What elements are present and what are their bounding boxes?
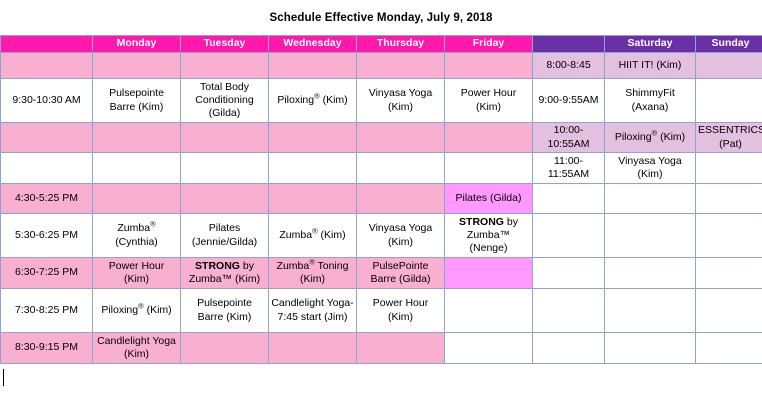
- cell-weekend-time: [533, 214, 605, 258]
- cell-time: 6:30-7:25 PM: [1, 258, 93, 289]
- cell-time: 9:30-10:30 AM: [1, 79, 93, 123]
- table-row: 7:30-8:25 PM Piloxing® (Kim) Pulsepointe…: [1, 289, 762, 333]
- cell-time: [1, 53, 93, 79]
- cell-time: 5:30-6:25 PM: [1, 214, 93, 258]
- cell-friday: [445, 53, 533, 79]
- cell-tuesday: [181, 184, 269, 214]
- cell-time: 4:30-5:25 PM: [1, 184, 93, 214]
- cell-saturday: ShimmyFit (Axana): [605, 79, 696, 123]
- cell-thursday: [357, 53, 445, 79]
- cell-thursday: [357, 333, 445, 364]
- cell-friday: [445, 153, 533, 184]
- cell-weekend-time: 9:00-9:55AM: [533, 79, 605, 123]
- cell-tuesday: STRONG by Zumba™ (Kim): [181, 258, 269, 289]
- cell-monday: Piloxing® (Kim): [93, 289, 181, 333]
- cell-wednesday: Piloxing® (Kim): [269, 79, 357, 123]
- table-row: 4:30-5:25 PM Pilates (Gilda): [1, 184, 762, 214]
- header-day-sunday: Sunday: [696, 36, 762, 53]
- cell-sunday: [696, 333, 762, 364]
- cell-wednesday: Candlelight Yoga- 7:45 start (Jim): [269, 289, 357, 333]
- cell-sunday: [696, 79, 762, 123]
- schedule-body: 8:00-8:45 HIIT IT! (Kim) 9:30-10:30 AM P…: [1, 53, 762, 364]
- cell-friday: Pilates (Gilda): [445, 184, 533, 214]
- cell-monday: Power Hour (Kim): [93, 258, 181, 289]
- cell-weekend-time: [533, 333, 605, 364]
- header-day-tuesday: Tuesday: [181, 36, 269, 53]
- cell-weekend-time: 10:00-10:55AM: [533, 123, 605, 153]
- cell-thursday: [357, 123, 445, 153]
- cell-weekend-time: [533, 184, 605, 214]
- table-row: 5:30-6:25 PM Zumba® (Cynthia) Pilates (J…: [1, 214, 762, 258]
- cell-sunday: [696, 289, 762, 333]
- header-day-thursday: Thursday: [357, 36, 445, 53]
- cell-sunday: [696, 53, 762, 79]
- cell-thursday: Vinyasa Yoga (Kim): [357, 214, 445, 258]
- cell-thursday: [357, 184, 445, 214]
- cell-monday: [93, 153, 181, 184]
- table-row: 8:00-8:45 HIIT IT! (Kim): [1, 53, 762, 79]
- cell-weekend-time: 8:00-8:45: [533, 53, 605, 79]
- header-day-monday: Monday: [93, 36, 181, 53]
- cell-monday: [93, 53, 181, 79]
- cell-thursday: Power Hour (Kim): [357, 289, 445, 333]
- cell-wednesday: [269, 184, 357, 214]
- cell-wednesday: Zumba® (Kim): [269, 214, 357, 258]
- schedule-table: Monday Tuesday Wednesday Thursday Friday…: [0, 35, 762, 364]
- cell-wednesday: [269, 53, 357, 79]
- cell-friday: [445, 123, 533, 153]
- cell-tuesday: [181, 53, 269, 79]
- cell-sunday: [696, 184, 762, 214]
- cell-friday: [445, 258, 533, 289]
- header-time-weekend: [533, 36, 605, 53]
- cell-tuesday: [181, 123, 269, 153]
- cell-thursday: [357, 153, 445, 184]
- table-row: 6:30-7:25 PM Power Hour (Kim) STRONG by …: [1, 258, 762, 289]
- cell-saturday: [605, 214, 696, 258]
- cell-time: 7:30-8:25 PM: [1, 289, 93, 333]
- cell-friday: Power Hour (Kim): [445, 79, 533, 123]
- cell-monday: Candlelight Yoga (Kim): [93, 333, 181, 364]
- table-row: 11:00-11:55AM Vinyasa Yoga (Kim): [1, 153, 762, 184]
- header-day-saturday: Saturday: [605, 36, 696, 53]
- cell-monday: [93, 123, 181, 153]
- page-title: Schedule Effective Monday, July 9, 2018: [0, 0, 762, 35]
- cell-sunday: [696, 153, 762, 184]
- cell-saturday: [605, 184, 696, 214]
- cell-friday: [445, 333, 533, 364]
- table-row: 8:30-9:15 PM Candlelight Yoga (Kim): [1, 333, 762, 364]
- table-row: 9:30-10:30 AM Pulsepointe Barre (Kim) To…: [1, 79, 762, 123]
- cell-thursday: Vinyasa Yoga (Kim): [357, 79, 445, 123]
- cell-tuesday: [181, 333, 269, 364]
- cell-monday: Pulsepointe Barre (Kim): [93, 79, 181, 123]
- cell-monday: Zumba® (Cynthia): [93, 214, 181, 258]
- cell-saturday: Vinyasa Yoga (Kim): [605, 153, 696, 184]
- cell-saturday: [605, 258, 696, 289]
- cell-sunday: ESSENTRICS (Pat): [696, 123, 762, 153]
- cell-wednesday: Zumba® Toning (Kim): [269, 258, 357, 289]
- cell-wednesday: [269, 123, 357, 153]
- header-day-friday: Friday: [445, 36, 533, 53]
- cell-weekend-time: [533, 289, 605, 333]
- header-time-weekday: [1, 36, 93, 53]
- cell-tuesday: Total Body Conditioning (Gilda): [181, 79, 269, 123]
- cell-tuesday: [181, 153, 269, 184]
- cell-sunday: [696, 214, 762, 258]
- cell-saturday: HIIT IT! (Kim): [605, 53, 696, 79]
- header-day-wednesday: Wednesday: [269, 36, 357, 53]
- cell-friday: STRONG by Zumba™ (Nenge): [445, 214, 533, 258]
- cell-sunday: [696, 258, 762, 289]
- cell-thursday: PulsePointe Barre (Gilda): [357, 258, 445, 289]
- cell-wednesday: [269, 333, 357, 364]
- cell-time: 8:30-9:15 PM: [1, 333, 93, 364]
- table-header-row: Monday Tuesday Wednesday Thursday Friday…: [1, 36, 762, 53]
- cell-tuesday: Pilates (Jennie/Gilda): [181, 214, 269, 258]
- text-cursor: [3, 369, 4, 386]
- table-row: 10:00-10:55AM Piloxing® (Kim) ESSENTRICS…: [1, 123, 762, 153]
- cell-time: [1, 123, 93, 153]
- cell-tuesday: Pulsepointe Barre (Kim): [181, 289, 269, 333]
- cell-saturday: [605, 333, 696, 364]
- cell-weekend-time: 11:00-11:55AM: [533, 153, 605, 184]
- cell-saturday: [605, 289, 696, 333]
- cell-friday: [445, 289, 533, 333]
- cell-saturday: Piloxing® (Kim): [605, 123, 696, 153]
- cell-weekend-time: [533, 258, 605, 289]
- cell-monday: [93, 184, 181, 214]
- cell-time: [1, 153, 93, 184]
- cell-wednesday: [269, 153, 357, 184]
